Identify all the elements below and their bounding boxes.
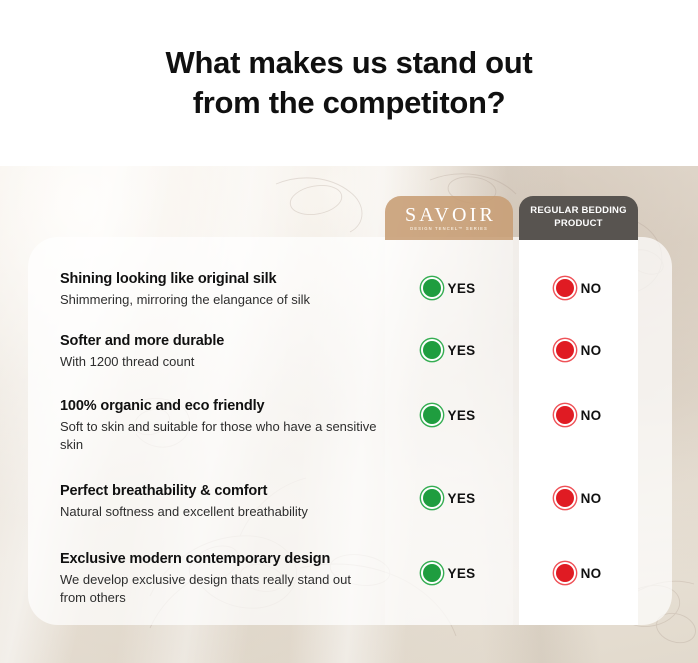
row-title: Shining looking like original silk [60,270,380,288]
row-subtitle: Shimmering, mirroring the elangance of s… [60,291,380,308]
verdict-regular: NO [519,564,638,582]
page-title-line-1: What makes us stand out [166,43,533,83]
verdict-regular: NO [519,489,638,507]
page-title-line-2: from the competiton? [166,83,533,123]
savoir-logo-text: SAVOIR [402,205,496,225]
row-feature-text: Shining looking like original silk Shimm… [60,270,380,308]
verdict-regular: NO [519,279,638,297]
verdict-regular: NO [519,341,638,359]
row-subtitle: We develop exclusive design thats really… [60,571,380,605]
row-subtitle: With 1200 thread count [60,353,380,370]
comparison-card: Shining looking like original silk Shimm… [28,237,672,625]
yes-dot-icon [423,279,441,297]
yes-dot-icon [423,341,441,359]
yes-dot-icon [423,489,441,507]
verdict-label-regular: NO [581,408,602,423]
no-dot-icon [556,406,574,424]
verdict-savoir: YES [385,279,513,297]
verdict-label-savoir: YES [448,343,476,358]
row-title: Exclusive modern contemporary design [60,550,380,568]
yes-dot-icon [423,406,441,424]
verdict-label-savoir: YES [448,491,476,506]
verdict-label-regular: NO [581,566,602,581]
no-dot-icon [556,489,574,507]
page-header: What makes us stand out from the competi… [0,0,698,166]
column-header-savoir: SAVOIR DESIGN TENCEL™ SERIES [385,196,513,240]
verdict-regular: NO [519,406,638,424]
no-dot-icon [556,341,574,359]
table-row: Exclusive modern contemporary design We … [28,542,672,614]
row-feature-text: 100% organic and eco friendly Soft to sk… [60,397,380,452]
row-subtitle: Natural softness and excellent breathabi… [60,503,380,520]
row-feature-text: Exclusive modern contemporary design We … [60,550,380,605]
row-feature-text: Perfect breathability & comfort Natural … [60,482,380,520]
column-header-regular-bedding: REGULAR BEDDING PRODUCT [519,196,638,240]
regular-bedding-label-line-1: REGULAR BEDDING [530,205,626,216]
savoir-logo-tagline: DESIGN TENCEL™ SERIES [410,227,488,231]
verdict-label-regular: NO [581,343,602,358]
row-title: 100% organic and eco friendly [60,397,380,415]
row-subtitle: Soft to skin and suitable for those who … [60,418,380,452]
row-feature-text: Softer and more durable With 1200 thread… [60,332,380,370]
verdict-savoir: YES [385,489,513,507]
verdict-label-regular: NO [581,281,602,296]
verdict-label-regular: NO [581,491,602,506]
no-dot-icon [556,279,574,297]
comparison-rows: Shining looking like original silk Shimm… [28,237,672,625]
verdict-label-savoir: YES [448,281,476,296]
verdict-savoir: YES [385,564,513,582]
table-row: Shining looking like original silk Shimm… [28,261,672,317]
table-row: 100% organic and eco friendly Soft to sk… [28,389,672,461]
verdict-savoir: YES [385,406,513,424]
regular-bedding-label: REGULAR BEDDING PRODUCT [530,205,626,231]
row-title: Perfect breathability & comfort [60,482,380,500]
row-title: Softer and more durable [60,332,380,350]
yes-dot-icon [423,564,441,582]
verdict-savoir: YES [385,341,513,359]
verdict-label-savoir: YES [448,566,476,581]
verdict-label-savoir: YES [448,408,476,423]
table-row: Softer and more durable With 1200 thread… [28,325,672,377]
table-row: Perfect breathability & comfort Natural … [28,475,672,527]
page-title: What makes us stand out from the competi… [166,43,533,122]
no-dot-icon [556,564,574,582]
regular-bedding-label-line-2: PRODUCT [554,218,602,229]
